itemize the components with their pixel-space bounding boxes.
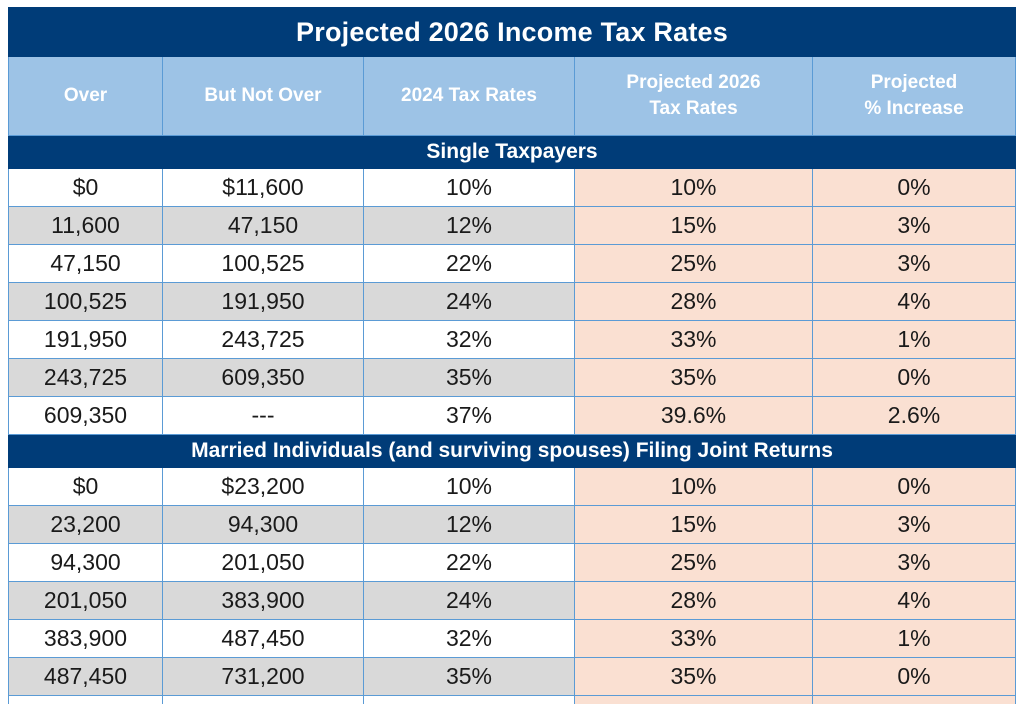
column-header-2024-tax-rates: 2024 Tax Rates xyxy=(364,57,575,136)
cell-rate-2026: 25% xyxy=(575,544,813,582)
cell-rate-2024: 22% xyxy=(364,544,575,582)
cell-pct-increase: 3% xyxy=(813,544,1016,582)
cell-pct-increase: 0% xyxy=(813,468,1016,506)
cell-rate-2026: 25% xyxy=(575,245,813,283)
cell-rate-2024: 10% xyxy=(364,169,575,207)
column-header-projected-2026-line2: Tax Rates xyxy=(575,96,812,122)
section-header-row: Single Taxpayers xyxy=(9,136,1016,169)
cell-but-not-over: 487,450 xyxy=(163,620,364,658)
cell-over: 383,900 xyxy=(9,620,163,658)
cell-over: 487,450 xyxy=(9,658,163,696)
cell-rate-2026: 39.6% xyxy=(575,397,813,435)
table-row: 383,900 487,450 32% 33% 1% xyxy=(9,620,1016,658)
cell-but-not-over: 731,200 xyxy=(163,658,364,696)
section-header-row: Married Individuals (and surviving spous… xyxy=(9,435,1016,468)
cell-but-not-over: 383,900 xyxy=(163,582,364,620)
column-header-over: Over xyxy=(9,57,163,136)
table-body: Projected 2026 Income Tax Rates Over But… xyxy=(9,8,1016,704)
table-row: 201,050 383,900 24% 28% 4% xyxy=(9,582,1016,620)
cell-rate-2026: 28% xyxy=(575,582,813,620)
table-row: $0 $23,200 10% 10% 0% xyxy=(9,468,1016,506)
cell-but-not-over: 94,300 xyxy=(163,506,364,544)
cell-rate-2026: 35% xyxy=(575,658,813,696)
column-header-2024-tax-rates-line1: 2024 Tax Rates xyxy=(364,83,574,109)
table-row: 609,350 --- 37% 39.6% 2.6% xyxy=(9,397,1016,435)
cell-but-not-over: 47,150 xyxy=(163,207,364,245)
table-row: 100,525 191,950 24% 28% 4% xyxy=(9,283,1016,321)
column-header-projected-pct-line1: Projected xyxy=(813,70,1015,96)
cell-rate-2026: 28% xyxy=(575,283,813,321)
column-header-row: Over But Not Over 2024 Tax Rates Project… xyxy=(9,57,1016,136)
cell-over: 100,525 xyxy=(9,283,163,321)
cell-rate-2026: 39.6% xyxy=(575,696,813,704)
cell-over: $0 xyxy=(9,169,163,207)
tax-table-sheet: Projected 2026 Income Tax Rates Over But… xyxy=(0,0,1024,704)
cell-pct-increase: 4% xyxy=(813,582,1016,620)
cell-pct-increase: 3% xyxy=(813,245,1016,283)
cell-but-not-over: 100,525 xyxy=(163,245,364,283)
cell-pct-increase: 3% xyxy=(813,207,1016,245)
table-row: 191,950 243,725 32% 33% 1% xyxy=(9,321,1016,359)
cell-but-not-over: $23,200 xyxy=(163,468,364,506)
cell-rate-2024: 32% xyxy=(364,321,575,359)
cell-rate-2024: 35% xyxy=(364,359,575,397)
table-row: 731,200 --- 37% 39.6% 2.6% xyxy=(9,696,1016,704)
page-title: Projected 2026 Income Tax Rates xyxy=(9,8,1016,57)
cell-over: 47,150 xyxy=(9,245,163,283)
cell-but-not-over: 201,050 xyxy=(163,544,364,582)
cell-rate-2026: 10% xyxy=(575,468,813,506)
cell-over: 11,600 xyxy=(9,207,163,245)
cell-but-not-over: 243,725 xyxy=(163,321,364,359)
cell-rate-2024: 35% xyxy=(364,658,575,696)
cell-rate-2024: 32% xyxy=(364,620,575,658)
cell-rate-2026: 15% xyxy=(575,207,813,245)
cell-pct-increase: 0% xyxy=(813,658,1016,696)
cell-rate-2026: 15% xyxy=(575,506,813,544)
column-header-projected-2026-tax-rates: Projected 2026 Tax Rates xyxy=(575,57,813,136)
table-row: 11,600 47,150 12% 15% 3% xyxy=(9,207,1016,245)
cell-rate-2026: 33% xyxy=(575,620,813,658)
column-header-but-not-over: But Not Over xyxy=(163,57,364,136)
cell-over: 243,725 xyxy=(9,359,163,397)
cell-rate-2026: 10% xyxy=(575,169,813,207)
column-header-projected-pct-line2: % Increase xyxy=(813,96,1015,122)
column-header-but-not-over-line1: But Not Over xyxy=(163,83,363,109)
cell-but-not-over: 191,950 xyxy=(163,283,364,321)
cell-rate-2024: 37% xyxy=(364,696,575,704)
table-row: $0 $11,600 10% 10% 0% xyxy=(9,169,1016,207)
cell-pct-increase: 1% xyxy=(813,620,1016,658)
cell-pct-increase: 2.6% xyxy=(813,696,1016,704)
cell-over: 191,950 xyxy=(9,321,163,359)
cell-pct-increase: 0% xyxy=(813,359,1016,397)
section-header-married-joint: Married Individuals (and surviving spous… xyxy=(9,435,1016,468)
cell-rate-2024: 37% xyxy=(364,397,575,435)
cell-over: 23,200 xyxy=(9,506,163,544)
cell-rate-2026: 33% xyxy=(575,321,813,359)
cell-pct-increase: 1% xyxy=(813,321,1016,359)
cell-over: $0 xyxy=(9,468,163,506)
cell-rate-2024: 12% xyxy=(364,506,575,544)
table-row: 47,150 100,525 22% 25% 3% xyxy=(9,245,1016,283)
cell-rate-2024: 12% xyxy=(364,207,575,245)
table-row: 23,200 94,300 12% 15% 3% xyxy=(9,506,1016,544)
table-row: 94,300 201,050 22% 25% 3% xyxy=(9,544,1016,582)
cell-rate-2024: 24% xyxy=(364,283,575,321)
column-header-projected-pct-increase: Projected % Increase xyxy=(813,57,1016,136)
column-header-over-line1: Over xyxy=(9,83,162,109)
cell-pct-increase: 2.6% xyxy=(813,397,1016,435)
section-header-single-taxpayers: Single Taxpayers xyxy=(9,136,1016,169)
tax-rates-table: Projected 2026 Income Tax Rates Over But… xyxy=(8,7,1016,704)
cell-but-not-over: $11,600 xyxy=(163,169,364,207)
cell-rate-2024: 22% xyxy=(364,245,575,283)
table-row: 243,725 609,350 35% 35% 0% xyxy=(9,359,1016,397)
cell-over: 731,200 xyxy=(9,696,163,704)
cell-rate-2024: 24% xyxy=(364,582,575,620)
cell-rate-2026: 35% xyxy=(575,359,813,397)
cell-pct-increase: 0% xyxy=(813,169,1016,207)
title-row: Projected 2026 Income Tax Rates xyxy=(9,8,1016,57)
cell-rate-2024: 10% xyxy=(364,468,575,506)
cell-over: 201,050 xyxy=(9,582,163,620)
cell-over: 94,300 xyxy=(9,544,163,582)
cell-but-not-over: 609,350 xyxy=(163,359,364,397)
cell-pct-increase: 3% xyxy=(813,506,1016,544)
cell-but-not-over: --- xyxy=(163,397,364,435)
column-header-projected-2026-line1: Projected 2026 xyxy=(575,70,812,96)
cell-over: 609,350 xyxy=(9,397,163,435)
cell-pct-increase: 4% xyxy=(813,283,1016,321)
cell-but-not-over: --- xyxy=(163,696,364,704)
table-row: 487,450 731,200 35% 35% 0% xyxy=(9,658,1016,696)
